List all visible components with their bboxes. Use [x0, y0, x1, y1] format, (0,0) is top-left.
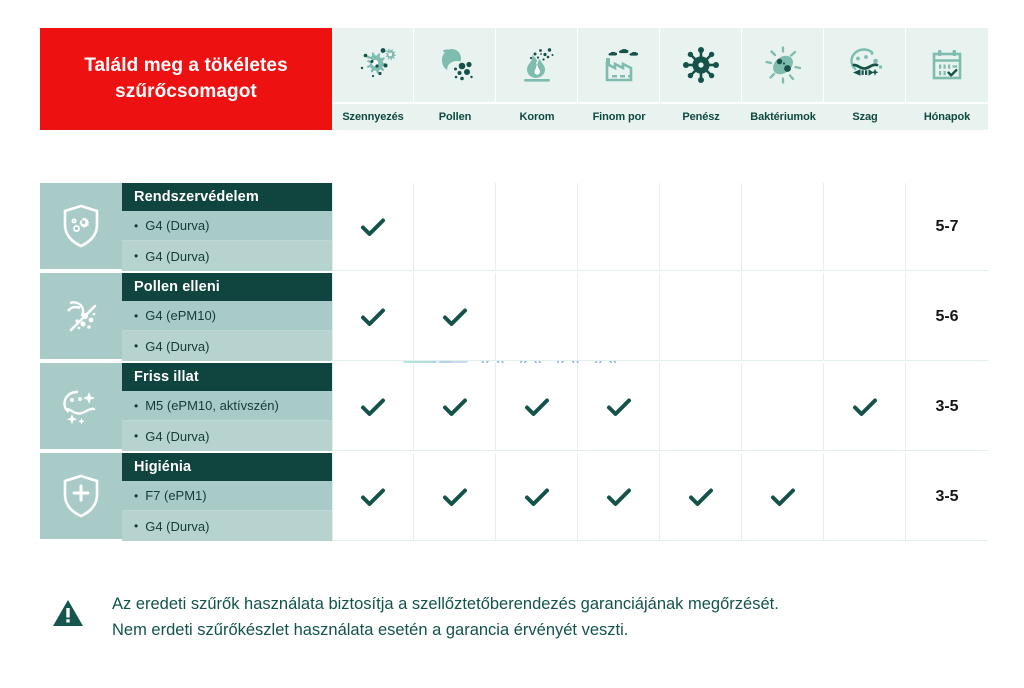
mold-spore-icon	[660, 28, 742, 102]
column-header-penesz[interactable]: Penész	[660, 28, 742, 130]
column-label: Szag	[852, 111, 877, 123]
row-label-group: Pollen elleni • G4 (ePM10) • G4 (Durva)	[40, 273, 332, 361]
cell-check	[578, 453, 660, 541]
cell-empty	[660, 363, 742, 451]
cell-check	[414, 453, 496, 541]
check-icon	[686, 482, 716, 512]
column-header-pollen[interactable]: Pollen	[414, 28, 496, 130]
footer-warning: Az eredeti szűrők használata biztosítja …	[52, 592, 779, 643]
column-header-szennyezes[interactable]: Szennyezés	[332, 28, 414, 130]
promo-line-1: Találd meg a tökéletes	[84, 55, 288, 76]
cell-empty	[496, 273, 578, 361]
cell-empty	[742, 273, 824, 361]
check-icon	[850, 392, 880, 422]
cell-check	[824, 363, 906, 451]
filter-item: • G4 (ePM10)	[122, 301, 332, 331]
calendar-icon	[906, 28, 988, 102]
promo-line-2: szűrőcsomagot	[115, 81, 257, 102]
check-icon	[522, 482, 552, 512]
cell-check	[414, 363, 496, 451]
cell-empty	[824, 273, 906, 361]
bullet-glyph: •	[134, 310, 138, 322]
check-icon	[358, 392, 388, 422]
bullet-glyph: •	[134, 340, 138, 352]
shield-plus-icon	[40, 453, 122, 541]
row-label-group: Rendszervédelem • G4 (Durva) • G4 (Durva…	[40, 183, 332, 271]
cell-empty	[824, 453, 906, 541]
column-header-korom[interactable]: Korom	[496, 28, 578, 130]
cell-months: 3-5	[906, 363, 988, 451]
column-header-szag[interactable]: Szag	[824, 28, 906, 130]
cell-check	[332, 453, 414, 541]
row-cells: 5-6	[332, 273, 988, 361]
column-label: Penész	[682, 111, 719, 123]
bullet-glyph: •	[134, 250, 138, 262]
column-label-box: Pollen	[414, 102, 496, 130]
months-value: 5-7	[935, 218, 958, 236]
bullet-glyph: •	[134, 520, 138, 532]
row-cells: 5-7	[332, 183, 988, 271]
cell-empty	[742, 183, 824, 271]
cell-empty	[578, 183, 660, 271]
odour-icon	[824, 28, 906, 102]
table-row: Rendszervédelem • G4 (Durva) • G4 (Durva…	[40, 183, 988, 271]
column-label: Szennyezés	[342, 111, 403, 123]
filter-label: G4 (Durva)	[145, 519, 209, 534]
check-icon	[358, 302, 388, 332]
column-label-box: Szag	[824, 102, 906, 130]
filter-label: G4 (ePM10)	[145, 308, 216, 323]
row-cells: 3-5	[332, 453, 988, 541]
column-header-finom-por[interactable]: Finom por	[578, 28, 660, 130]
check-icon	[604, 482, 634, 512]
bullet-glyph: •	[134, 400, 138, 412]
months-value: 3-5	[935, 488, 958, 506]
cell-empty	[578, 273, 660, 361]
column-header-honapok[interactable]: Hónapok	[906, 28, 988, 130]
row-title: Higiénia	[122, 453, 332, 481]
footer-line-2: Nem erdeti szűrőkészlet használata eseté…	[112, 618, 779, 644]
filter-item: • G4 (Durva)	[122, 211, 332, 241]
pollution-icon	[332, 28, 414, 102]
cell-check	[332, 273, 414, 361]
column-label-box: Penész	[660, 102, 742, 130]
filter-item: • G4 (Durva)	[122, 511, 332, 541]
bullet-glyph: •	[134, 490, 138, 502]
footer-line-1: Az eredeti szűrők használata biztosítja …	[112, 592, 779, 618]
cell-months: 3-5	[906, 453, 988, 541]
check-icon	[604, 392, 634, 422]
cell-check	[578, 363, 660, 451]
filter-label: G4 (Durva)	[145, 249, 209, 264]
filter-item: • M5 (ePM10, aktívszén)	[122, 391, 332, 421]
row-title: Rendszervédelem	[122, 183, 332, 211]
filter-label: M5 (ePM10, aktívszén)	[145, 398, 279, 413]
column-header-bakteriumok[interactable]: Baktériumok	[742, 28, 824, 130]
row-labels: Rendszervédelem • G4 (Durva) • G4 (Durva…	[122, 183, 332, 271]
check-icon	[440, 482, 470, 512]
bacteria-icon	[742, 28, 824, 102]
infographic-page: Találd meg a tökéletes szűrőcsomagot	[0, 0, 1024, 688]
column-label-box: Hónapok	[906, 102, 988, 130]
row-title: Friss illat	[122, 363, 332, 391]
filter-label: F7 (ePM1)	[145, 488, 206, 503]
column-label: Korom	[520, 111, 555, 123]
table-row: Friss illat • M5 (ePM10, aktívszén) • G4…	[40, 363, 988, 451]
filter-comparison-table: Rendszervédelem • G4 (Durva) • G4 (Durva…	[40, 183, 988, 541]
filter-item: • F7 (ePM1)	[122, 481, 332, 511]
row-labels: Pollen elleni • G4 (ePM10) • G4 (Durva)	[122, 273, 332, 361]
cell-check	[332, 363, 414, 451]
filter-label: G4 (Durva)	[145, 218, 209, 233]
cell-months: 5-7	[906, 183, 988, 271]
column-label: Finom por	[593, 111, 646, 123]
cell-empty	[414, 183, 496, 271]
table-row: Pollen elleni • G4 (ePM10) • G4 (Durva)	[40, 273, 988, 361]
column-label-box: Finom por	[578, 102, 660, 130]
check-icon	[440, 302, 470, 332]
column-label-box: Korom	[496, 102, 578, 130]
header-band: Találd meg a tökéletes szűrőcsomagot	[40, 28, 988, 130]
filter-label: G4 (Durva)	[145, 429, 209, 444]
soot-flame-icon	[496, 28, 578, 102]
cell-months: 5-6	[906, 273, 988, 361]
fresh-scent-face-icon	[40, 363, 122, 451]
cell-empty	[742, 363, 824, 451]
row-cells: 3-5	[332, 363, 988, 451]
cell-check	[414, 273, 496, 361]
cell-check	[660, 453, 742, 541]
check-icon	[440, 392, 470, 422]
promo-banner: Találd meg a tökéletes szűrőcsomagot	[40, 28, 332, 130]
cell-empty	[660, 273, 742, 361]
column-label: Pollen	[439, 111, 471, 123]
row-labels: Friss illat • M5 (ePM10, aktívszén) • G4…	[122, 363, 332, 451]
warning-triangle-icon	[52, 592, 94, 633]
cell-empty	[824, 183, 906, 271]
pollen-icon	[414, 28, 496, 102]
row-title: Pollen elleni	[122, 273, 332, 301]
column-label: Baktériumok	[750, 111, 816, 123]
fine-dust-factory-icon	[578, 28, 660, 102]
months-value: 3-5	[935, 398, 958, 416]
check-icon	[522, 392, 552, 422]
filter-label: G4 (Durva)	[145, 339, 209, 354]
column-headers: Szennyezés	[332, 28, 988, 130]
filter-item: • G4 (Durva)	[122, 331, 332, 361]
footer-text: Az eredeti szűrők használata biztosítja …	[94, 592, 779, 643]
pollen-leaf-icon	[40, 273, 122, 361]
filter-item: • G4 (Durva)	[122, 241, 332, 271]
cell-check	[332, 183, 414, 271]
bullet-glyph: •	[134, 430, 138, 442]
table-row: Higiénia • F7 (ePM1) • G4 (Durva)	[40, 453, 988, 541]
cell-check	[742, 453, 824, 541]
cell-check	[496, 453, 578, 541]
filter-item: • G4 (Durva)	[122, 421, 332, 451]
cell-empty	[660, 183, 742, 271]
column-label-box: Baktériumok	[742, 102, 824, 130]
bullet-glyph: •	[134, 220, 138, 232]
cell-check	[496, 363, 578, 451]
row-labels: Higiénia • F7 (ePM1) • G4 (Durva)	[122, 453, 332, 541]
cell-empty	[496, 183, 578, 271]
promo-text: Találd meg a tökéletes szűrőcsomagot	[70, 53, 302, 105]
row-label-group: Friss illat • M5 (ePM10, aktívszén) • G4…	[40, 363, 332, 451]
months-value: 5-6	[935, 308, 958, 326]
check-icon	[358, 482, 388, 512]
column-label-box: Szennyezés	[332, 102, 414, 130]
shield-gear-icon	[40, 183, 122, 271]
row-label-group: Higiénia • F7 (ePM1) • G4 (Durva)	[40, 453, 332, 541]
column-label: Hónapok	[924, 111, 970, 123]
check-icon	[768, 482, 798, 512]
check-icon	[358, 212, 388, 242]
